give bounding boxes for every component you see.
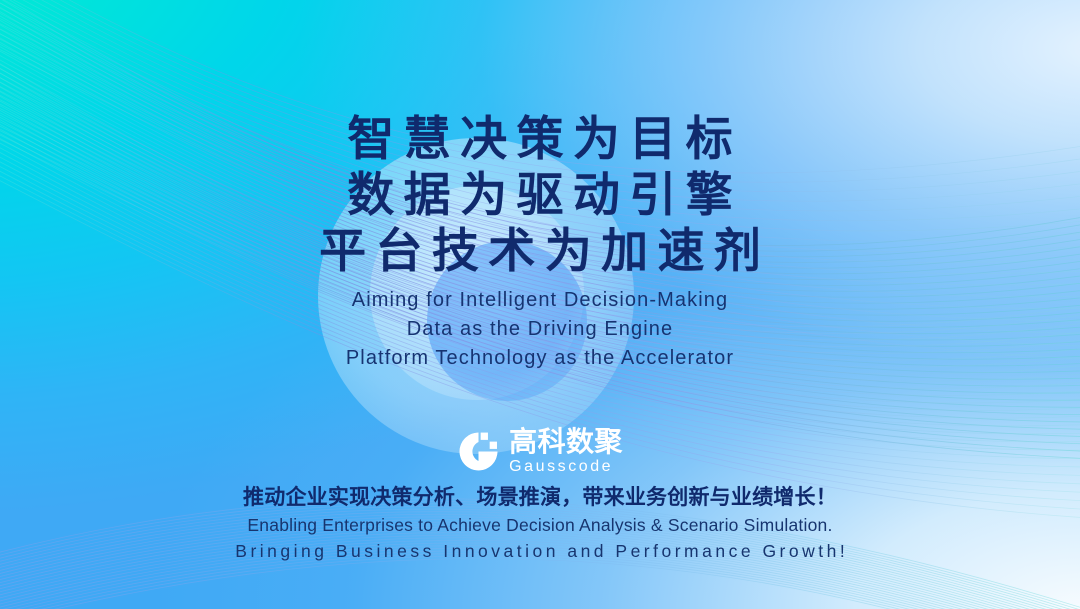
headline-line-3: 平台技术为加速剂 (0, 224, 1080, 280)
footer-chinese: 推动企业实现决策分析、场景推演，带来业务创新与业绩增长！ (0, 482, 1080, 512)
poster-canvas: 智慧决策为目标 数据为驱动引擎 平台技术为加速剂 Aiming for Inte… (0, 0, 1080, 609)
headline-line-1: 智慧决策为目标 (0, 112, 1080, 168)
footer-english-line-1: Enabling Enterprises to Achieve Decision… (0, 512, 1080, 538)
headline-line-2: 数据为驱动引擎 (0, 168, 1080, 224)
headline-chinese: 智慧决策为目标 数据为驱动引擎 平台技术为加速剂 (0, 112, 1080, 280)
subtitle-line-2: Data as the Driving Engine (0, 315, 1080, 344)
logo-text-block: 高科数聚 Gausscode (509, 428, 623, 475)
subtitle-line-3: Platform Technology as the Accelerator (0, 344, 1080, 373)
subtitle-line-1: Aiming for Intelligent Decision-Making (0, 286, 1080, 315)
logo-name-english: Gausscode (509, 459, 623, 475)
brand-logo: 高科数聚 Gausscode (0, 428, 1080, 475)
footer-english-line-2: Bringing Business Innovation and Perform… (0, 538, 1080, 564)
subtitle-english: Aiming for Intelligent Decision-Making D… (0, 286, 1080, 373)
footer-block: 推动企业实现决策分析、场景推演，带来业务创新与业绩增长！ Enabling En… (0, 482, 1080, 564)
logo-name-chinese: 高科数聚 (509, 428, 623, 456)
gausscode-logo-mark-icon (457, 430, 500, 473)
